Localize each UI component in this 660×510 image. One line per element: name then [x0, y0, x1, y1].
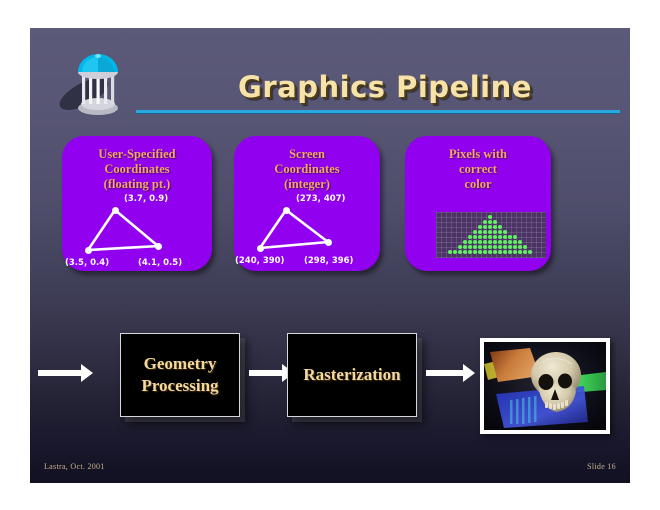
- triangle-vertex-left: [257, 245, 264, 252]
- vertex-label-right: (298, 396): [304, 256, 353, 266]
- callout-heading-line: (integer): [234, 177, 380, 192]
- vertex-label-apex: (273, 407): [296, 194, 345, 204]
- pipeline-stage-label: Geometry Processing: [141, 353, 218, 397]
- callout-pixels-with-correct-color: Pixels with correct color: [405, 136, 551, 271]
- callout-heading: Pixels with correct color: [405, 136, 551, 192]
- callout-heading-line: Pixels with: [405, 147, 551, 162]
- callout-heading-line: correct: [405, 162, 551, 177]
- vertex-label-left: (240, 390): [235, 256, 284, 266]
- pipeline-stage-geometry-processing: Geometry Processing: [120, 333, 240, 417]
- triangle-vertex-right: [155, 243, 162, 250]
- title-divider-rule: [136, 110, 620, 113]
- callout-user-specified-coordinates: User-Specified Coordinates (floating pt.…: [62, 136, 212, 271]
- presentation-slide: Graphics Pipeline User-Specified Coordin…: [30, 28, 630, 483]
- callout-heading-line: Screen: [234, 147, 380, 162]
- triangle-vertex-left: [85, 247, 92, 254]
- page-title: Graphics Pipeline: [150, 70, 620, 104]
- triangle-diagram-screen: (273, 407) (240, 390) (298, 396): [234, 192, 380, 271]
- slide-number: Slide 16: [587, 462, 616, 471]
- callout-heading-line: User-Specified: [62, 147, 212, 162]
- callout-screen-coordinates: Screen Coordinates (integer) (273, 407) …: [234, 136, 380, 271]
- rendered-skull-image-frame: [480, 338, 610, 434]
- triangle-vertex-right: [325, 239, 332, 246]
- pixel-raster-diagram: [436, 212, 546, 258]
- vertex-label-left: (3.5, 0.4): [65, 258, 109, 268]
- callout-heading-line: color: [405, 177, 551, 192]
- pipeline-stage-label-line: Processing: [141, 375, 218, 397]
- triangle-vertex-apex: [283, 207, 290, 214]
- arrow-raster-to-output: [426, 364, 480, 382]
- old-well-dome-logo: [58, 42, 136, 122]
- triangle-diagram-floating: (3.7, 0.9) (3.5, 0.4) (4.1, 0.5): [62, 192, 212, 271]
- footer-attribution: Lastra, Oct. 2001: [44, 462, 105, 471]
- pipeline-stage-label-line: Geometry: [141, 353, 218, 375]
- callout-heading-line: (floating pt.): [62, 177, 212, 192]
- pipeline-stage-rasterization: Rasterization: [287, 333, 417, 417]
- pipeline-stage-label: Rasterization: [303, 364, 400, 386]
- callout-heading: User-Specified Coordinates (floating pt.…: [62, 136, 212, 192]
- vertex-label-apex: (3.7, 0.9): [124, 194, 168, 204]
- callout-heading-line: Coordinates: [234, 162, 380, 177]
- callout-heading-line: Coordinates: [62, 162, 212, 177]
- pipeline-stage-label-line: Rasterization: [303, 364, 400, 386]
- vertex-label-right: (4.1, 0.5): [138, 258, 182, 268]
- callout-heading: Screen Coordinates (integer): [234, 136, 380, 192]
- arrow-into-geometry: [38, 364, 94, 382]
- rendered-skull-image: [484, 342, 606, 430]
- triangle-vertex-apex: [112, 207, 119, 214]
